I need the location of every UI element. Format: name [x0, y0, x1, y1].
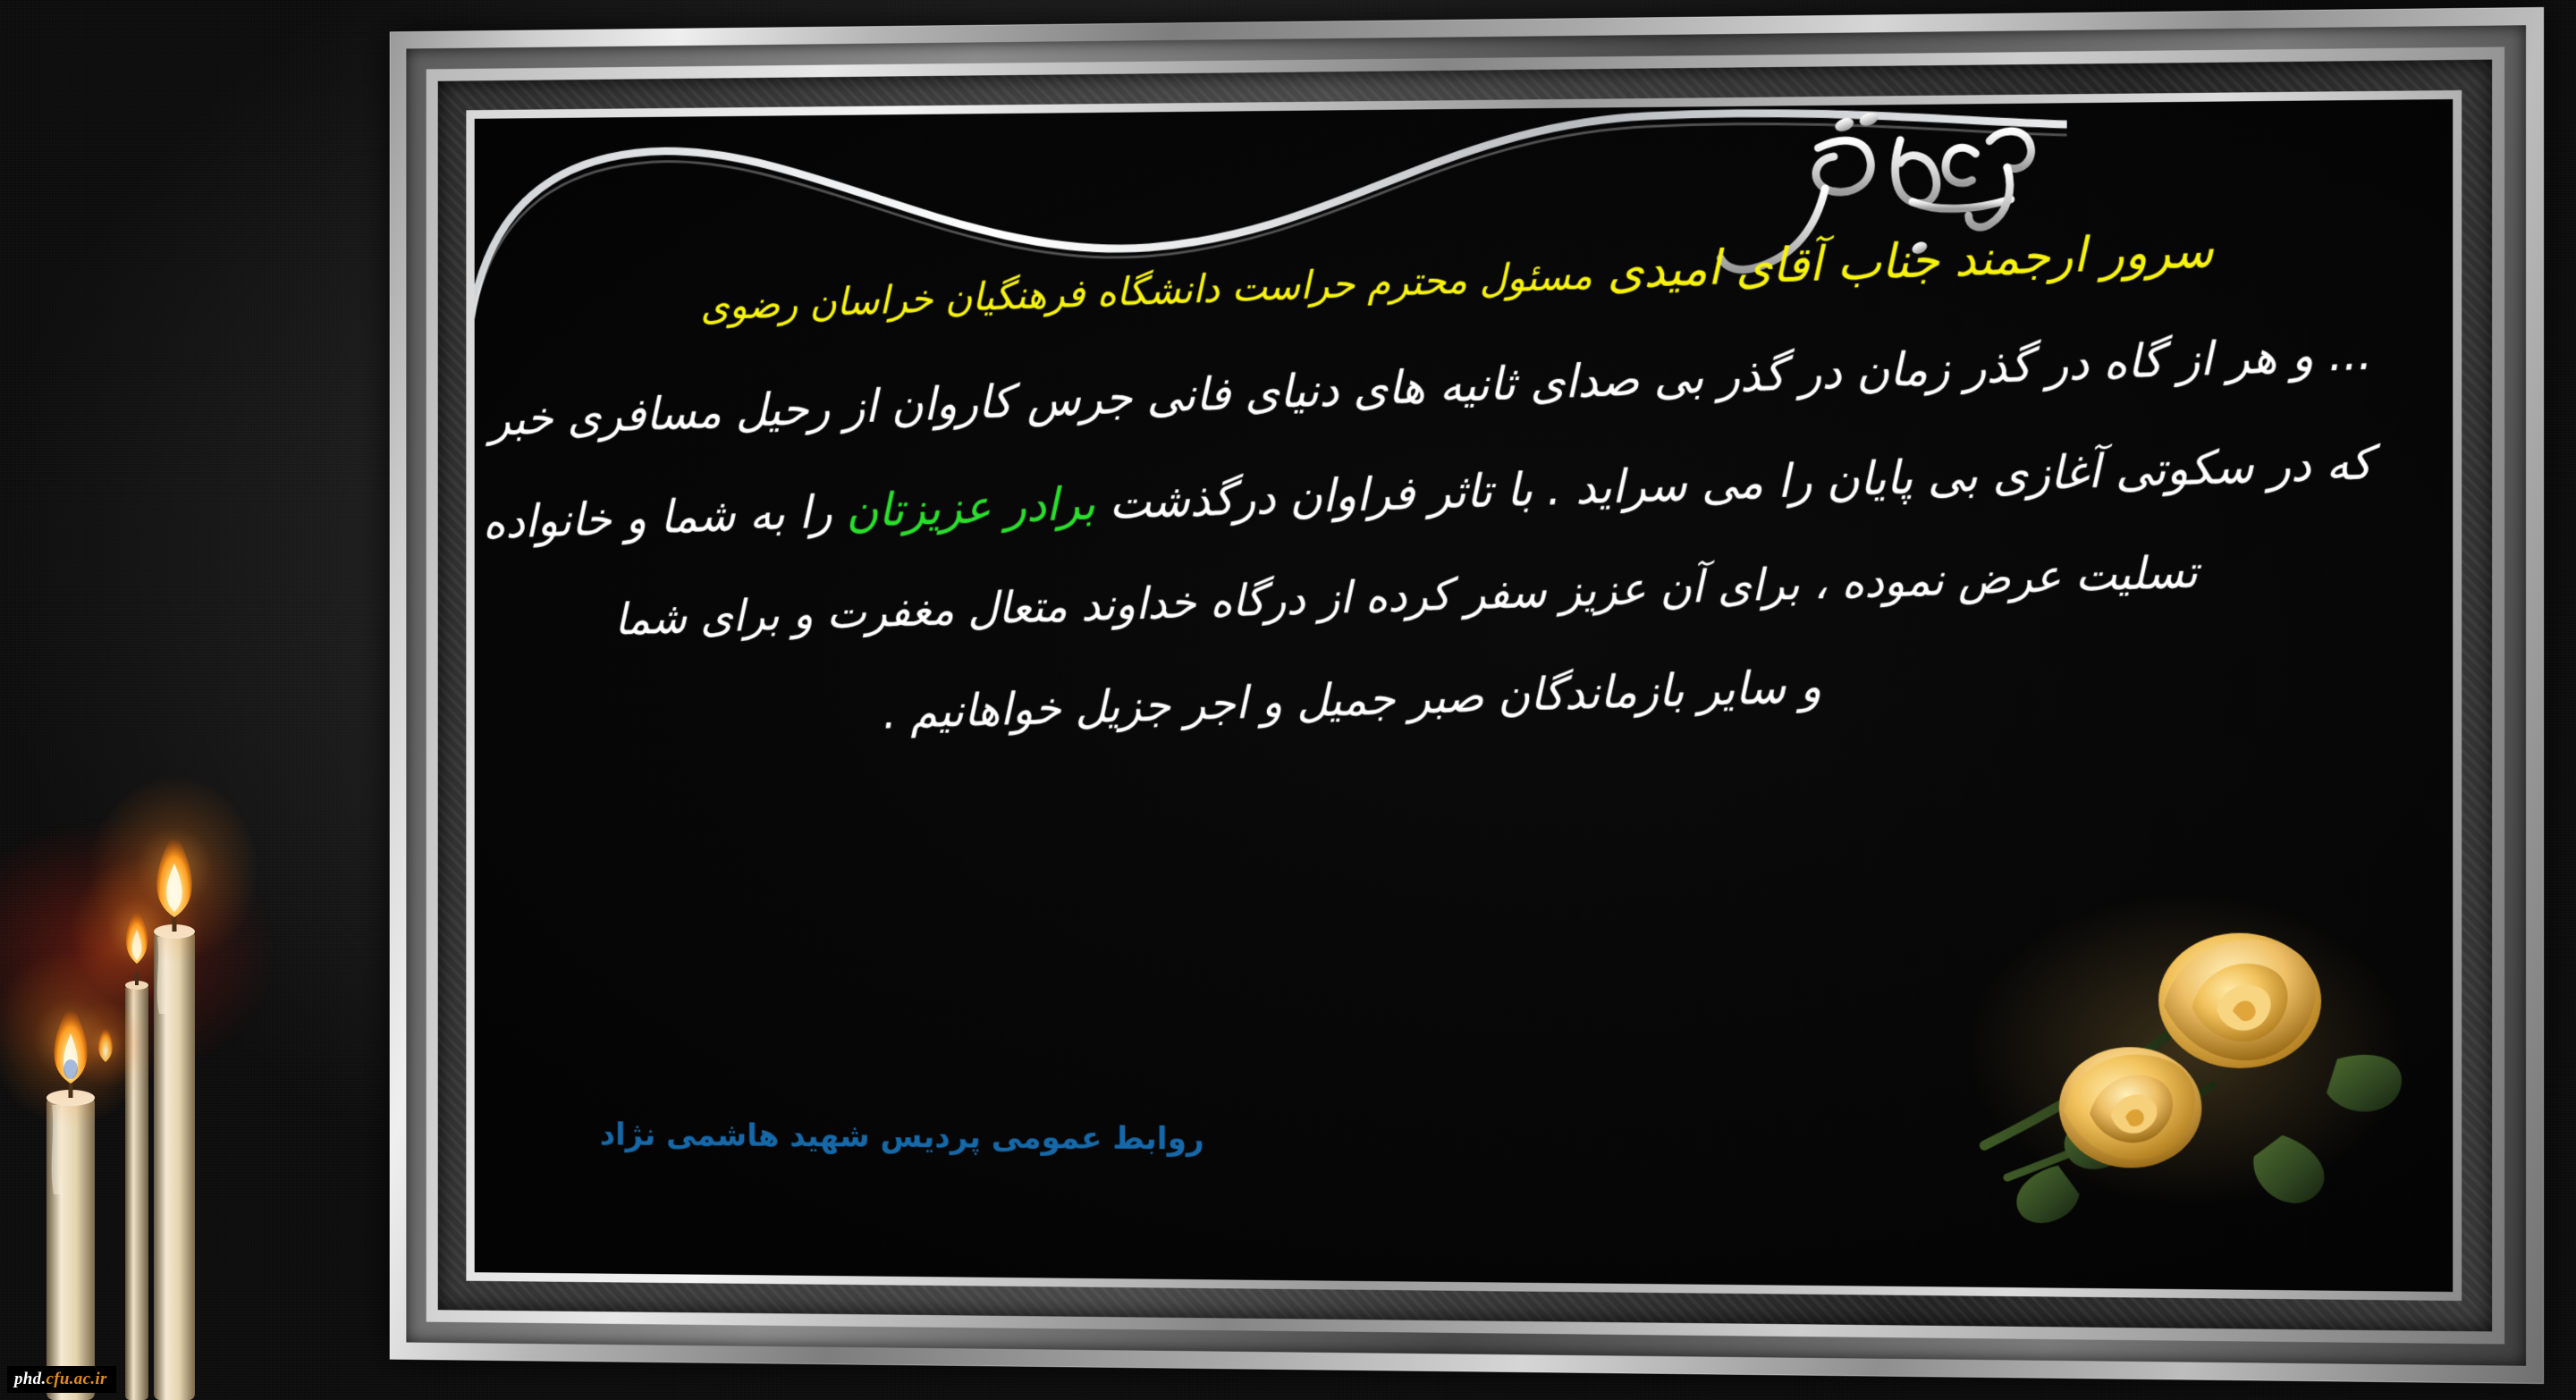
addressee-title: مسئول محترم حراست دانشگاه فرهنگیان خراسا…	[700, 253, 1593, 329]
signature-public-relations: روابط عمومی پردیس شهید هاشمی نژاد	[600, 1117, 1204, 1157]
text-line-5: و سایر بازماندگان صبر جمیل و اجر جزیل خو…	[549, 645, 2373, 750]
watermark-suffix: cfu.ac.ir	[46, 1370, 107, 1388]
watermark: phd.cfu.ac.ir	[7, 1366, 116, 1393]
line3-part-a: که در سکوتی آغازی بی پایان را می سراید .…	[1109, 436, 2374, 529]
yellow-roses	[1923, 880, 2418, 1256]
text-line-addressee: سرور ارجمند جناب آقای امیدی مسئول محترم …	[549, 216, 2373, 337]
lit-candles	[0, 774, 384, 1400]
memorial-board: سرور ارجمند جناب آقای امیدی مسئول محترم …	[475, 99, 2454, 1292]
addressee-name: سرور ارجمند جناب آقای امیدی	[1606, 222, 2214, 299]
picture-frame: سرور ارجمند جناب آقای امیدی مسئول محترم …	[390, 7, 2544, 1384]
text-line-4: تسلیت عرض نموده ، برای آن عزیز سفر کرده …	[549, 541, 2373, 647]
text-line-3: که در سکوتی آغازی بی پایان را می سراید .…	[549, 436, 2373, 548]
watermark-prefix: phd.	[14, 1370, 46, 1388]
poster-canvas: سرور ارجمند جناب آقای امیدی مسئول محترم …	[0, 0, 2576, 1400]
condolence-text: سرور ارجمند جناب آقای امیدی مسئول محترم …	[475, 242, 2454, 735]
text-line-2: ... و هر از گاه در گذر زمان در گذر بی صد…	[549, 327, 2373, 445]
line3-part-b: را به شما و خانواده محترمتان	[475, 486, 833, 555]
line3-highlight: برادر عزیزتان	[845, 478, 1095, 538]
